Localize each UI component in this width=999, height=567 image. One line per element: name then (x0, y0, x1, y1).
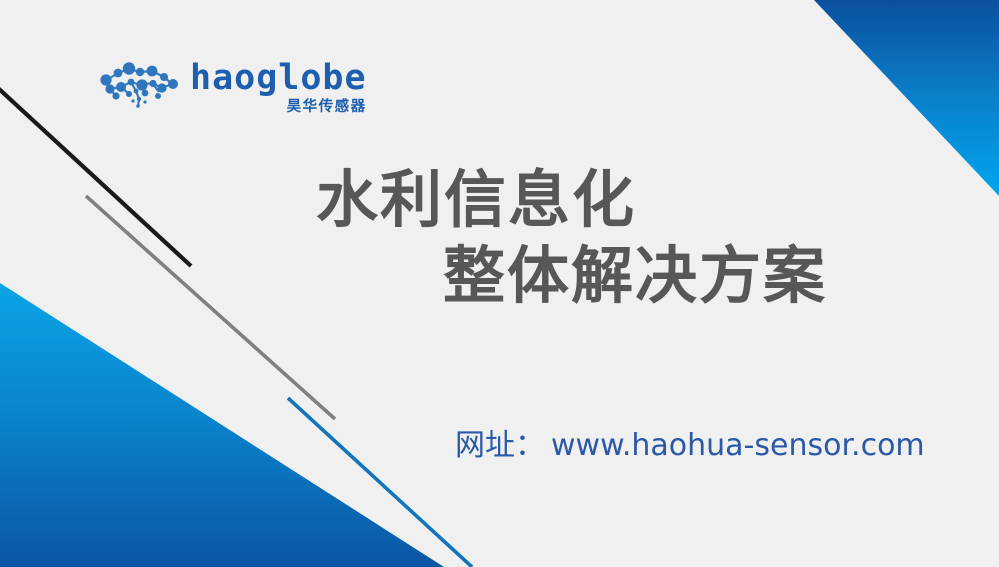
slide-title: 水利信息化 整体解决方案 (0, 162, 999, 313)
logo-text: haoglobe 昊华传感器 (190, 61, 367, 115)
haoglobe-network-dots-icon (96, 58, 182, 118)
website-label: 网址： (455, 420, 545, 464)
blue-diagonal-line (288, 398, 472, 567)
title-line-2: 整体解决方案 (0, 238, 999, 314)
logo-subtext-chinese: 昊华传感器 (287, 100, 367, 115)
company-logo: haoglobe 昊华传感器 (96, 58, 367, 118)
presentation-slide: haoglobe 昊华传感器 水利信息化 整体解决方案 网址： www.haoh… (0, 0, 999, 567)
gray-diagonal-line (86, 196, 335, 419)
website-line: 网址： www.haohua-sensor.com (455, 420, 925, 464)
title-line-1: 水利信息化 (0, 162, 999, 238)
top-right-blue-triangle (814, 0, 999, 196)
website-url[interactable]: www.haohua-sensor.com (551, 428, 925, 463)
logo-wordmark: haoglobe (190, 61, 367, 96)
bottom-left-blue-triangle (0, 283, 444, 567)
